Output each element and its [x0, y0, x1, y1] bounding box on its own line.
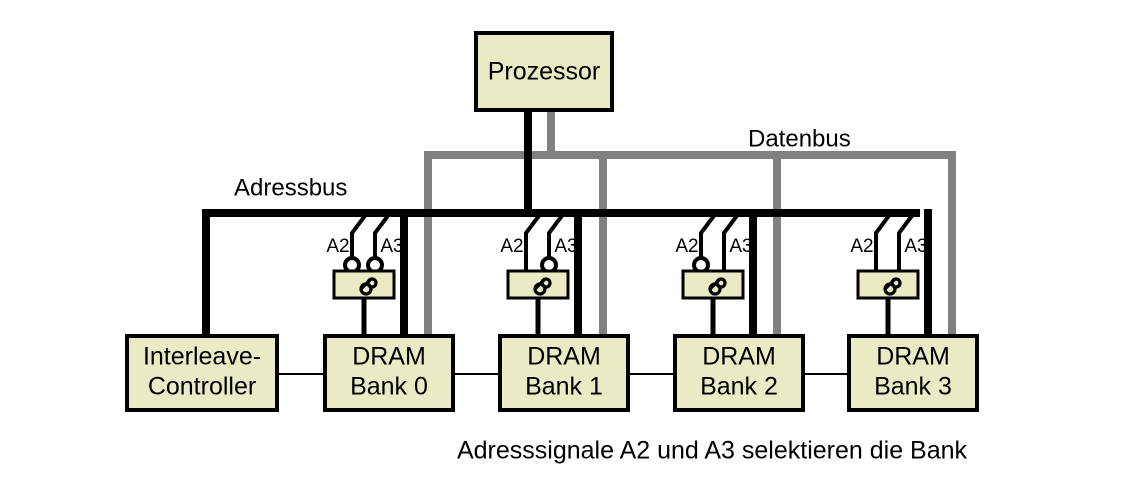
signal-label-a2-bank-0: A2 [326, 236, 349, 257]
controller-label-line1: Interleave- [143, 343, 261, 371]
bank-0-group: A2 A3 DRAM Bank 0 [325, 213, 453, 410]
signal-label-a2-bank-1: A2 [500, 236, 523, 257]
address-tap-a2-bank-3 [876, 213, 891, 274]
data-bus-label: Datenbus [748, 125, 851, 152]
processor-node[interactable]: Prozessor [476, 33, 612, 110]
address-tap-a2-bank-2 [701, 213, 716, 260]
bank-2-group: A2 A3 DRAM Bank 2 [675, 213, 803, 410]
address-tap-a2-bank-1 [526, 213, 541, 274]
address-tap-a2-bank-0 [352, 213, 367, 260]
signal-label-a2-bank-2: A2 [675, 236, 698, 257]
bank-1-label-line1: DRAM [527, 343, 601, 371]
bank-2-label-line1: DRAM [702, 343, 776, 371]
data-bus-group [428, 110, 952, 336]
diagram-canvas: Prozessor Adressbus Datenbus Interleave-… [0, 0, 1146, 500]
bank-0-label-line2: Bank 0 [350, 373, 428, 401]
diagram-caption: Adresssignale A2 und A3 selektieren die … [457, 437, 968, 465]
bank-1-label-line2: Bank 1 [525, 373, 603, 401]
bank-3-label-line2: Bank 3 [874, 373, 952, 401]
signal-label-a3-bank-1: A3 [554, 236, 577, 257]
bank-1-group: A2 A3 DRAM Bank 1 [500, 213, 628, 410]
signal-label-a3-bank-2: A3 [729, 236, 752, 257]
controller-label-line2: Controller [148, 373, 256, 401]
interleaving-diagram: Prozessor Adressbus Datenbus Interleave-… [0, 0, 1146, 500]
signal-label-a3-bank-0: A3 [380, 236, 403, 257]
address-bus-label: Adressbus [234, 174, 347, 201]
signal-label-a2-bank-3: A2 [850, 236, 873, 257]
bank-2-label-line2: Bank 2 [700, 373, 778, 401]
bank-3-label-line1: DRAM [876, 343, 950, 371]
bank-3-group: A2 A3 DRAM Bank 3 [849, 213, 977, 410]
processor-label: Prozessor [488, 58, 601, 86]
interleave-controller-node[interactable]: Interleave- Controller [127, 336, 277, 410]
signal-label-a3-bank-3: A3 [904, 236, 927, 257]
bank-0-label-line1: DRAM [352, 343, 426, 371]
